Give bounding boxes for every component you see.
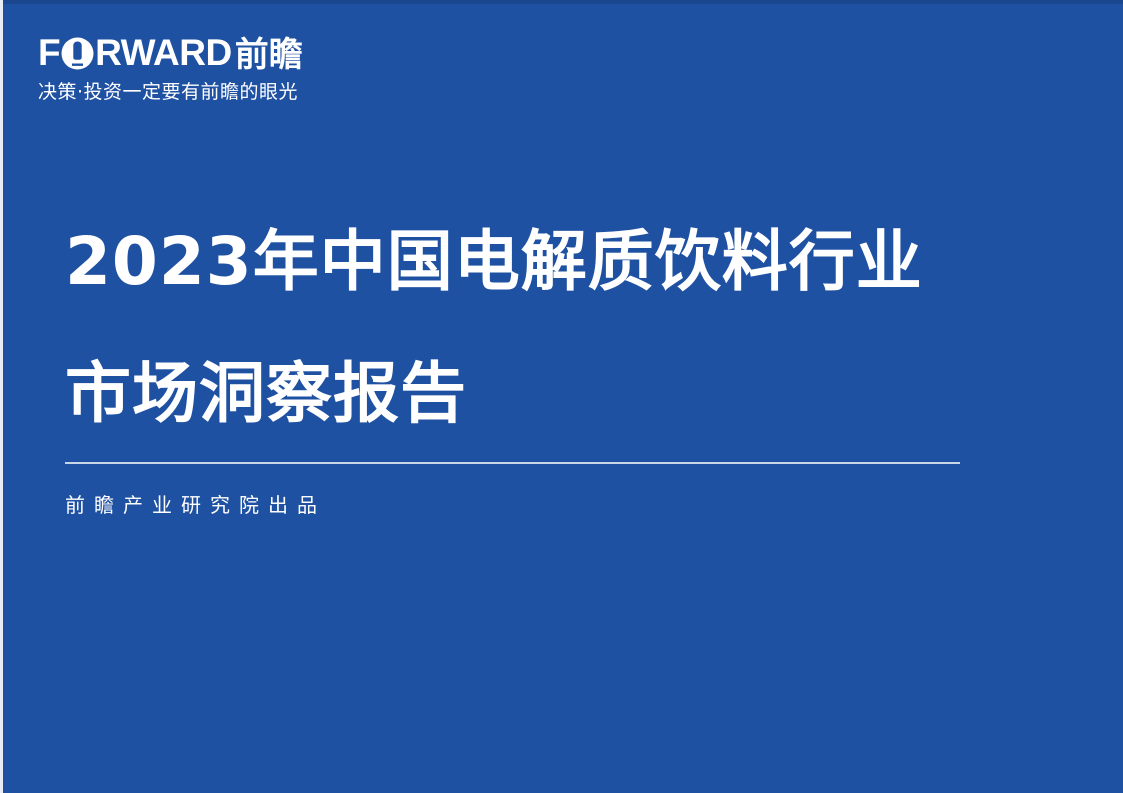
logo-latin-text: F RWARD [38, 34, 232, 72]
brand-logo: F RWARD 前瞻 决策·投资一定要有前瞻的眼光 [38, 28, 358, 103]
logo-cjk-text: 前瞻 [235, 38, 303, 72]
logo-tagline: 决策·投资一定要有前瞻的眼光 [38, 81, 358, 103]
forward-o-mark-icon [61, 37, 94, 70]
page-title: 2023年中国电解质饮料行业 市场洞察报告 [65, 196, 965, 460]
logo-letter-f: F [38, 34, 60, 72]
title-divider [65, 462, 960, 464]
logo-wordmark: F RWARD 前瞻 [38, 28, 358, 72]
report-cover-page: F RWARD 前瞻 决策·投资一定要有前瞻的眼光 2023年中国电解质饮料行业… [0, 0, 1123, 793]
title-line-1: 2023年中国电解质饮料行业 [65, 196, 965, 328]
publisher-credit: 前瞻产业研究院出品 [65, 492, 326, 518]
logo-letters-rward: RWARD [95, 34, 232, 72]
top-edge-strip [0, 0, 1123, 4]
left-edge-strip [0, 0, 3, 793]
title-line-2: 市场洞察报告 [65, 328, 965, 460]
